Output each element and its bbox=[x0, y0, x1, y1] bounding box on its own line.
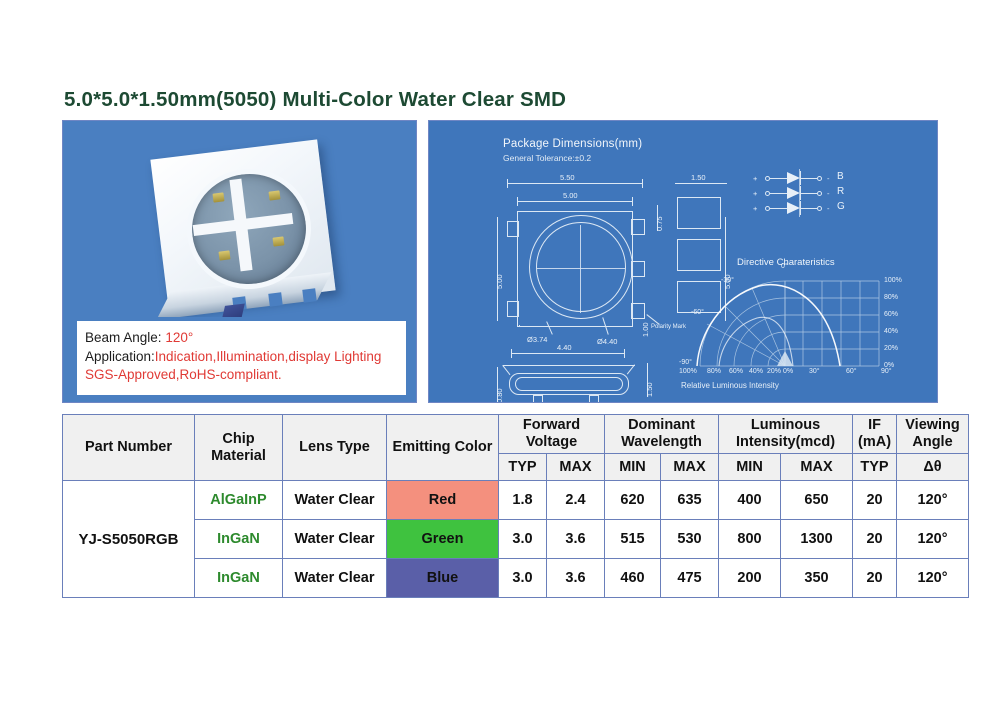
cell-iv-max: 650 bbox=[781, 481, 853, 520]
led-product-photo bbox=[63, 121, 416, 317]
dim-tick-500t-r bbox=[632, 197, 633, 206]
dim-line-550 bbox=[507, 183, 643, 184]
cell-wl-min: 620 bbox=[605, 481, 661, 520]
application-label: Application: bbox=[85, 349, 155, 364]
subheader-iv-max: MAX bbox=[781, 454, 853, 481]
dim-label-440: 4.40 bbox=[557, 343, 572, 352]
polar-pct-100: 100% bbox=[884, 277, 902, 284]
circuit-wire-g-1 bbox=[770, 208, 788, 209]
dim-label-100: 1.00 bbox=[641, 322, 650, 337]
table-row: InGaN Water Clear Green 3.0 3.6 515 530 … bbox=[63, 520, 969, 559]
cell-vf-max: 3.6 bbox=[547, 559, 605, 598]
sideview-top-edge bbox=[503, 365, 635, 366]
led-die-4 bbox=[218, 250, 230, 260]
pad-right-1 bbox=[631, 219, 645, 235]
polar-angle-minus30: -30° bbox=[721, 277, 734, 284]
table-row: YJ-S5050RGB AlGaInP Water Clear Red 1.8 … bbox=[63, 481, 969, 520]
datasheet-page: 5.0*5.0*1.50mm(5050) Multi-Color Water C… bbox=[0, 0, 1000, 720]
cell-iv-max: 350 bbox=[781, 559, 853, 598]
led-notch-3 bbox=[302, 288, 316, 302]
radiation-pattern-curve bbox=[697, 285, 840, 366]
polar-angle-minus90: -90° bbox=[679, 359, 692, 366]
circuit-wire-g-2 bbox=[801, 208, 817, 209]
cell-viewing-angle: 120° bbox=[897, 559, 969, 598]
circuit-common-bus bbox=[799, 169, 800, 217]
cell-vf-typ: 3.0 bbox=[499, 559, 547, 598]
dim-tick-440-l bbox=[511, 349, 512, 358]
header-viewing-angle: Viewing Angle bbox=[897, 415, 969, 454]
drawing-tolerance: General Tolerance:±0.2 bbox=[503, 153, 591, 163]
dim-label-075: 0.75 bbox=[655, 216, 664, 231]
cell-vf-typ: 1.8 bbox=[499, 481, 547, 520]
subheader-iv-min: MIN bbox=[719, 454, 781, 481]
polar-pct-60: 60% bbox=[884, 311, 898, 318]
dim-line-500-left bbox=[497, 217, 498, 321]
polar-angle-30: 30° bbox=[809, 368, 820, 375]
circuit-node-b-cathode bbox=[817, 176, 822, 181]
cell-if-typ: 20 bbox=[853, 559, 897, 598]
cell-part-number: YJ-S5050RGB bbox=[63, 481, 195, 598]
polar-angle-90: 90° bbox=[881, 368, 892, 375]
subheader-viewing-angle-delta: Δθ bbox=[897, 454, 969, 481]
circuit-minus-g: - bbox=[827, 204, 830, 213]
cell-iv-min: 800 bbox=[719, 520, 781, 559]
cell-lens-type: Water Clear bbox=[283, 559, 387, 598]
cell-viewing-angle: 120° bbox=[897, 481, 969, 520]
polar-pct-40: 40% bbox=[884, 328, 898, 335]
circuit-wire-b-1 bbox=[770, 178, 788, 179]
polar-xpct-40: 40% bbox=[749, 368, 763, 375]
sideview-anchor bbox=[519, 325, 520, 326]
cell-lens-type: Water Clear bbox=[283, 481, 387, 520]
dim-label-550: 5.50 bbox=[560, 173, 575, 182]
cell-if-typ: 20 bbox=[853, 520, 897, 559]
application-value: Indication,Illumination,display Lighting bbox=[155, 349, 382, 364]
product-photo-panel: Beam Angle: 120° Application:Indication,… bbox=[62, 120, 417, 403]
center-line-v bbox=[580, 225, 581, 313]
polar-angle-minus60: -60° bbox=[691, 309, 704, 316]
polar-xpct-60: 60% bbox=[729, 368, 743, 375]
polar-pct-20: 20% bbox=[884, 345, 898, 352]
subheader-wl-max: MAX bbox=[661, 454, 719, 481]
header-dominant-wavelength: Dominant Wavelength bbox=[605, 415, 719, 454]
subheader-if-typ: TYP bbox=[853, 454, 897, 481]
polar-pct-80: 80% bbox=[884, 294, 898, 301]
dia-label-374: Ø3.74 bbox=[527, 335, 547, 344]
dia-label-440: Ø4.40 bbox=[597, 337, 617, 346]
cell-wl-min: 460 bbox=[605, 559, 661, 598]
dim-label-150-top: 1.50 bbox=[691, 173, 706, 182]
table-header-row-group: Part Number Chip Material Lens Type Emit… bbox=[63, 415, 969, 454]
subheader-vf-max: MAX bbox=[547, 454, 605, 481]
cell-emitting-color: Red bbox=[387, 481, 499, 520]
beam-angle-line: Beam Angle: 120° bbox=[85, 329, 400, 348]
cell-chip-material: InGaN bbox=[195, 559, 283, 598]
dim-tick-440-r bbox=[624, 349, 625, 358]
led-die-2 bbox=[268, 190, 280, 200]
cell-chip-material: InGaN bbox=[195, 520, 283, 559]
sideview-leg-1 bbox=[533, 395, 543, 403]
subheader-wl-min: MIN bbox=[605, 454, 661, 481]
dim-label-080: 0.80 bbox=[495, 388, 504, 403]
header-part-number: Part Number bbox=[63, 415, 195, 481]
specifications-table: Part Number Chip Material Lens Type Emit… bbox=[62, 414, 969, 598]
led-polarity-corner bbox=[221, 303, 245, 317]
circuit-plus-r: + bbox=[753, 189, 757, 198]
cell-lens-type: Water Clear bbox=[283, 520, 387, 559]
side-block-1 bbox=[677, 197, 721, 229]
beam-angle-value: 120° bbox=[165, 330, 193, 345]
polar-angle-60: 60° bbox=[846, 368, 857, 375]
cell-wl-max: 475 bbox=[661, 559, 719, 598]
dim-line-150-top bbox=[675, 183, 727, 184]
dim-label-150-side: 1.50 bbox=[645, 382, 654, 397]
dim-label-500-top: 5.00 bbox=[563, 191, 578, 200]
pad-left-2 bbox=[507, 301, 519, 317]
cell-wl-max: 635 bbox=[661, 481, 719, 520]
dim-line-440 bbox=[511, 353, 625, 354]
polar-xpct-80: 80% bbox=[707, 368, 721, 375]
cell-iv-min: 400 bbox=[719, 481, 781, 520]
cell-vf-max: 2.4 bbox=[547, 481, 605, 520]
dim-tick-550-r bbox=[642, 179, 643, 188]
polar-xpct-20: 20% bbox=[767, 368, 781, 375]
pad-right-3 bbox=[631, 303, 645, 319]
dim-tick-550-l bbox=[507, 179, 508, 188]
application-line: Application:Indication,Illumination,disp… bbox=[85, 348, 400, 367]
lens-circle-inner bbox=[536, 222, 626, 312]
led-die-3 bbox=[272, 236, 284, 246]
circuit-node-g-cathode bbox=[817, 206, 822, 211]
sideview-leg-2 bbox=[589, 395, 599, 403]
directive-characteristics-chart bbox=[677, 273, 897, 393]
circuit-label-r: R bbox=[837, 186, 844, 197]
circuit-wire-r-2 bbox=[801, 193, 817, 194]
package-drawing-panel: Package Dimensions(mm) General Tolerance… bbox=[428, 120, 938, 403]
circuit-label-b: B bbox=[837, 171, 844, 182]
header-forward-voltage: Forward Voltage bbox=[499, 415, 605, 454]
cell-iv-max: 1300 bbox=[781, 520, 853, 559]
beam-angle-label: Beam Angle: bbox=[85, 330, 165, 345]
page-title: 5.0*5.0*1.50mm(5050) Multi-Color Water C… bbox=[64, 88, 566, 112]
circuit-plus-b: + bbox=[753, 174, 757, 183]
pad-left-1 bbox=[507, 221, 519, 237]
sideview-chamfer-l bbox=[502, 365, 510, 375]
led-notch-2 bbox=[268, 292, 282, 306]
subheader-vf-typ: TYP bbox=[499, 454, 547, 481]
cell-chip-material: AlGaInP bbox=[195, 481, 283, 520]
circuit-wire-r-1 bbox=[770, 193, 788, 194]
cell-wl-min: 515 bbox=[605, 520, 661, 559]
dim-tick-500t-l bbox=[517, 197, 518, 206]
header-emitting-color: Emitting Color bbox=[387, 415, 499, 481]
cell-vf-typ: 3.0 bbox=[499, 520, 547, 559]
circuit-plus-g: + bbox=[753, 204, 757, 213]
side-block-2 bbox=[677, 239, 721, 271]
cell-vf-max: 3.6 bbox=[547, 520, 605, 559]
cell-wl-max: 530 bbox=[661, 520, 719, 559]
cell-emitting-color: Green bbox=[387, 520, 499, 559]
circuit-label-g: G bbox=[837, 201, 845, 212]
product-caption: Beam Angle: 120° Application:Indication,… bbox=[77, 321, 406, 395]
circuit-node-r-cathode bbox=[817, 191, 822, 196]
polar-angle-0: 0° bbox=[781, 263, 788, 270]
polar-xlabel: Relative Luminous Intensity bbox=[681, 381, 779, 390]
compliance-line: SGS-Approved,RoHS-compliant. bbox=[85, 366, 400, 385]
sideview-body-inner bbox=[515, 377, 623, 391]
cell-if-typ: 20 bbox=[853, 481, 897, 520]
header-luminous-intensity: Luminous Intensity(mcd) bbox=[719, 415, 853, 454]
dim-line-500-top bbox=[517, 201, 633, 202]
table-row: InGaN Water Clear Blue 3.0 3.6 460 475 2… bbox=[63, 559, 969, 598]
polar-xpct-0: 0% bbox=[783, 368, 793, 375]
polar-pct-0: 0% bbox=[884, 362, 894, 369]
led-die-1 bbox=[212, 192, 224, 202]
cell-iv-min: 200 bbox=[719, 559, 781, 598]
header-if-ma: IF (mA) bbox=[853, 415, 897, 454]
header-chip-material: Chip Material bbox=[195, 415, 283, 481]
pad-right-2 bbox=[631, 261, 645, 277]
circuit-minus-b: - bbox=[827, 174, 830, 183]
cell-emitting-color: Blue bbox=[387, 559, 499, 598]
circuit-wire-b-2 bbox=[801, 178, 817, 179]
polar-xpct-100: 100% bbox=[679, 368, 697, 375]
center-line-h bbox=[537, 268, 625, 269]
cell-viewing-angle: 120° bbox=[897, 520, 969, 559]
header-lens-type: Lens Type bbox=[283, 415, 387, 481]
dim-label-500-left: 5.00 bbox=[495, 274, 504, 289]
drawing-title: Package Dimensions(mm) bbox=[503, 138, 642, 150]
circuit-minus-r: - bbox=[827, 189, 830, 198]
